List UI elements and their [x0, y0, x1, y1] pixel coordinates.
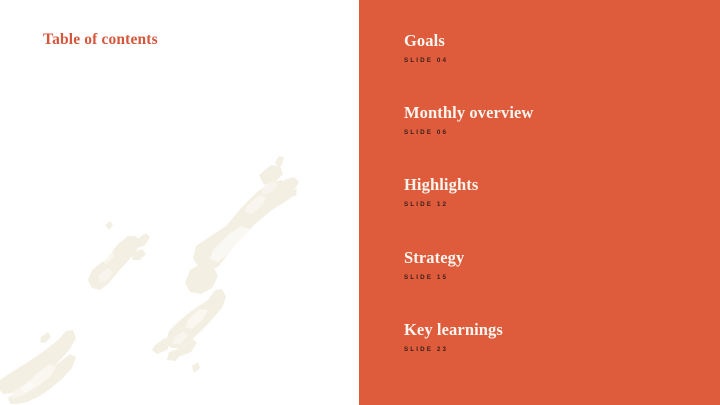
toc-item-strategy[interactable]: Strategy SLIDE 15 — [404, 248, 704, 282]
toc-item-title: Strategy — [404, 248, 704, 268]
toc-item-key-learnings[interactable]: Key learnings SLIDE 23 — [404, 320, 704, 354]
brush-stroke-decoration — [0, 0, 359, 405]
toc-item-monthly-overview[interactable]: Monthly overview SLIDE 06 — [404, 103, 704, 137]
page-title: Table of contents — [43, 31, 158, 49]
table-of-contents-list: Goals SLIDE 04 Monthly overview SLIDE 06… — [404, 0, 704, 405]
toc-item-slide-number: SLIDE 06 — [404, 128, 704, 137]
toc-item-slide-number: SLIDE 12 — [404, 200, 704, 209]
presentation-slide: Table of contents Goals SLIDE 04 Monthly… — [0, 0, 720, 405]
toc-item-slide-number: SLIDE 04 — [404, 56, 704, 65]
left-panel: Table of contents — [0, 0, 359, 405]
right-panel: Goals SLIDE 04 Monthly overview SLIDE 06… — [359, 0, 720, 405]
toc-item-highlights[interactable]: Highlights SLIDE 12 — [404, 175, 704, 209]
toc-item-title: Key learnings — [404, 320, 704, 340]
toc-item-slide-number: SLIDE 23 — [404, 345, 704, 354]
toc-item-title: Highlights — [404, 175, 704, 195]
toc-item-slide-number: SLIDE 15 — [404, 273, 704, 282]
toc-item-goals[interactable]: Goals SLIDE 04 — [404, 31, 704, 65]
toc-item-title: Goals — [404, 31, 704, 51]
toc-item-title: Monthly overview — [404, 103, 704, 123]
